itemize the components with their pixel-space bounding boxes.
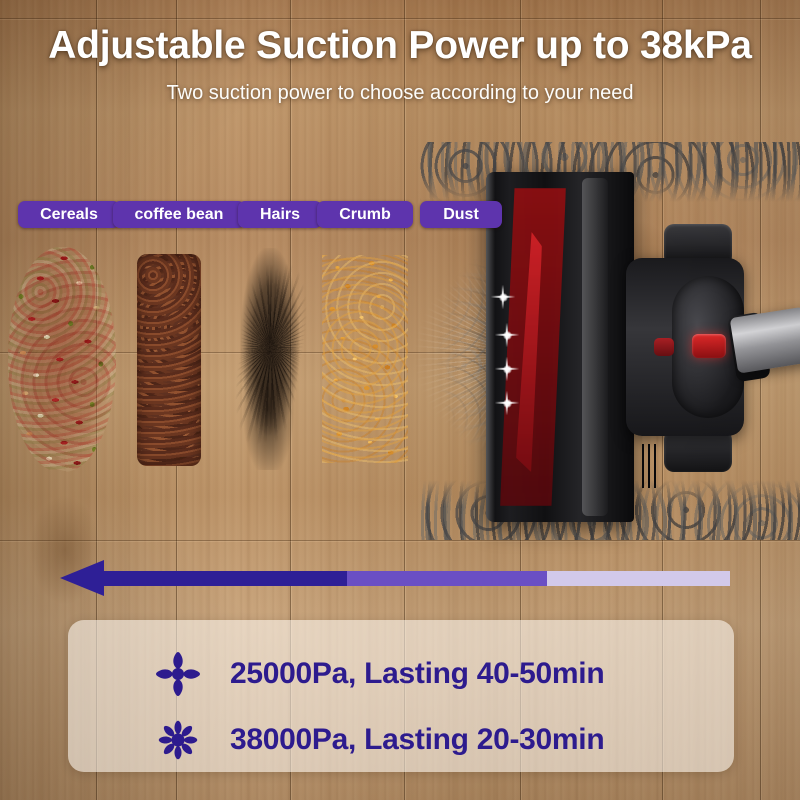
- product-infographic: Adjustable Suction Power up to 38kPa Two…: [0, 0, 800, 800]
- suction-modes-panel: 25000Pa, Lasting 40-50min: [68, 620, 734, 772]
- mode-row-max: 38000Pa, Lasting 20-30min: [152, 714, 604, 766]
- badge-cereals[interactable]: Cereals: [18, 201, 120, 228]
- arrow-segment-high: [104, 571, 347, 586]
- fan-icon-4-blade: [152, 648, 204, 700]
- mode-row-standard: 25000Pa, Lasting 40-50min: [152, 648, 604, 700]
- mode-max-label: 38000Pa, Lasting 20-30min: [230, 723, 604, 757]
- mode-standard-label: 25000Pa, Lasting 40-50min: [230, 657, 604, 691]
- arrow-segment-low: [547, 571, 730, 586]
- badge-crumb[interactable]: Crumb: [317, 201, 413, 228]
- badge-dust[interactable]: Dust: [420, 201, 502, 228]
- suction-power-arrow: [60, 560, 740, 596]
- fan-icon-8-blade: [152, 714, 204, 766]
- badge-coffee-bean[interactable]: coffee bean: [113, 201, 245, 228]
- arrow-head-icon: [60, 560, 104, 596]
- arrow-segment-medium: [347, 571, 547, 586]
- badge-hairs[interactable]: Hairs: [238, 201, 322, 228]
- page-title: Adjustable Suction Power up to 38kPa: [0, 24, 800, 68]
- page-subtitle: Two suction power to choose according to…: [0, 82, 800, 105]
